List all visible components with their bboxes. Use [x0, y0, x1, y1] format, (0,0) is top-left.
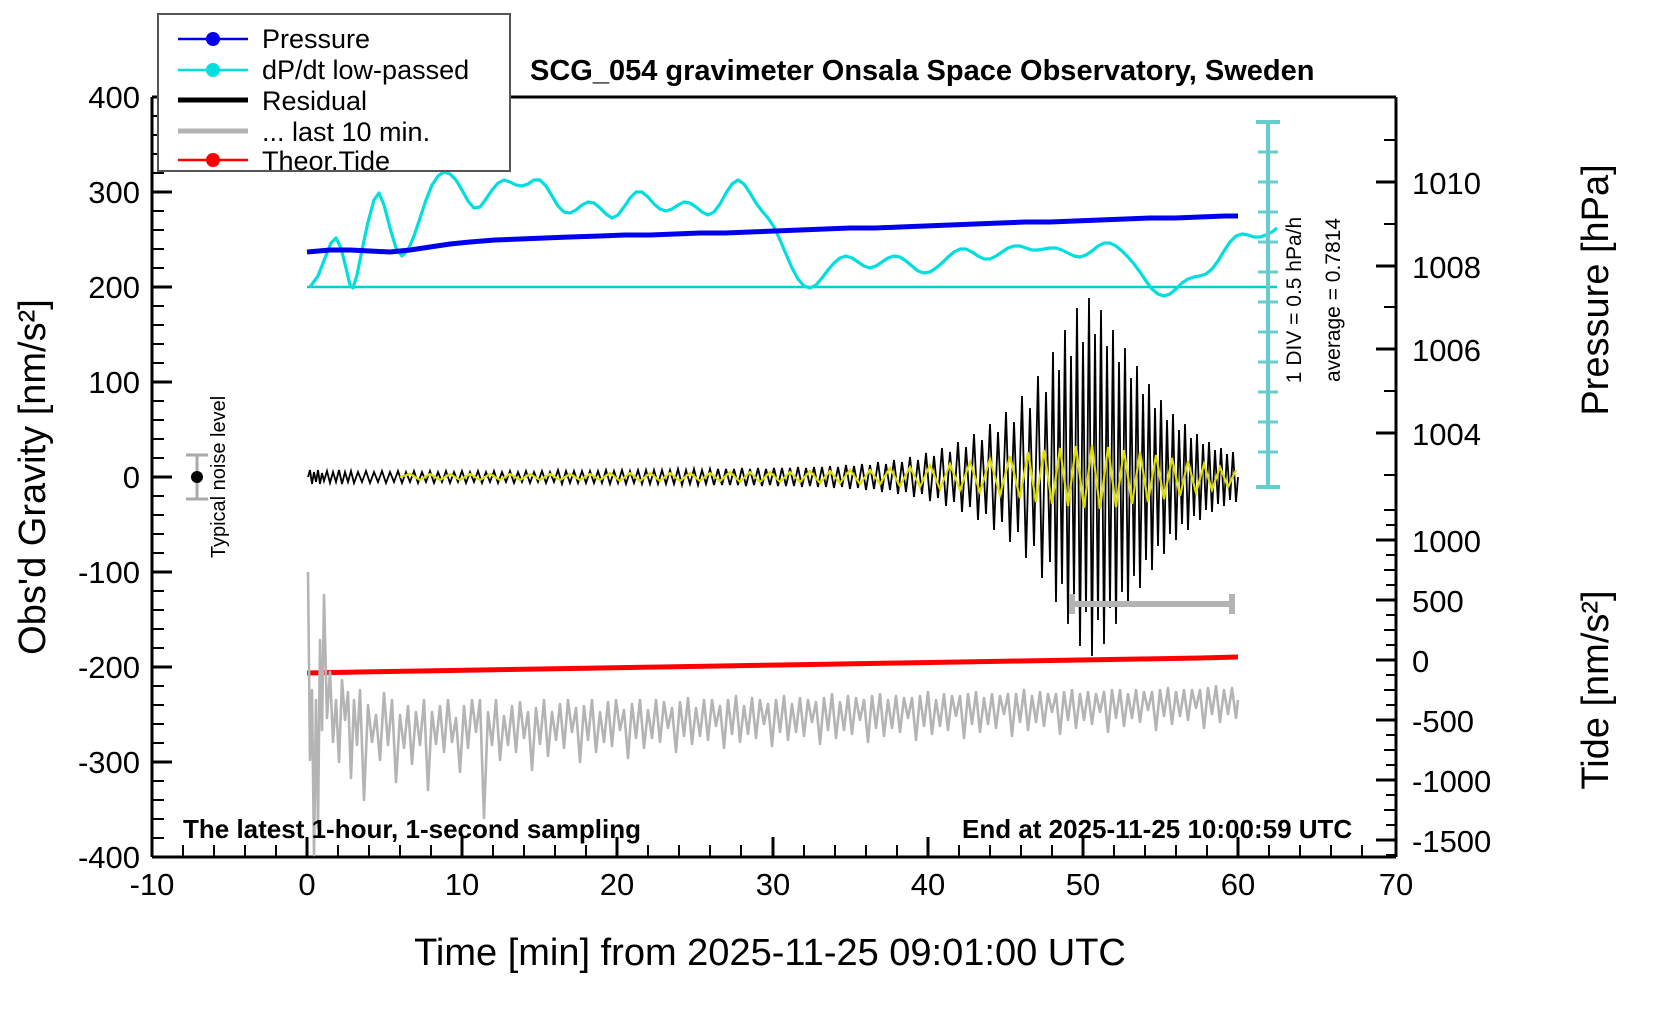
x-tick-7: 60 — [1221, 867, 1255, 902]
y-tick-left-8: 400 — [88, 80, 140, 115]
x-tick-6: 50 — [1066, 867, 1100, 902]
x-tick-5: 40 — [911, 867, 945, 902]
legend-swatch-marker-pressure — [206, 32, 220, 46]
dpdt-div-scale-label: 1 DIV = 0.5 hPa/h — [1283, 217, 1306, 383]
y-tick-left-6: 200 — [88, 270, 140, 305]
footer-left-label: The latest 1-hour, 1-second sampling — [183, 814, 641, 844]
y-tick-tide-minus500: -500 — [1412, 704, 1474, 739]
y-tick-pressure-1006: 1006 — [1412, 333, 1481, 368]
y-tick-pressure-1004: 1004 — [1412, 417, 1481, 452]
noise-level-dot — [191, 471, 203, 483]
legend-swatch-marker-dpdt — [206, 63, 220, 77]
x-tick-4: 30 — [756, 867, 790, 902]
legend-label-pressure: Pressure — [262, 24, 370, 54]
y-tick-left-5: 100 — [88, 365, 140, 400]
y-axis-right-tide-title: Tide [nm/s²] — [1575, 590, 1617, 789]
gravimeter-plot-figure: -400 -300 -200 -100 0 100 200 300 400 — [0, 0, 1660, 1020]
y-tick-tide-minus1000: -1000 — [1412, 764, 1491, 799]
y-tick-left-1: -300 — [78, 745, 140, 780]
legend-label-last10min: ... last 10 min. — [262, 117, 430, 147]
y-axis-right-pressure-title: Pressure [hPa] — [1575, 164, 1617, 415]
y-axis-left-title: Obs'd Gravity [nm/s²] — [12, 299, 54, 655]
y-tick-tide-0: 0 — [1412, 644, 1429, 679]
y-tick-pressure-1008: 1008 — [1412, 250, 1481, 285]
y-tick-tide-minus1500: -1500 — [1412, 824, 1491, 859]
legend-label-residual: Residual — [262, 86, 367, 116]
legend: Pressure dP/dt low-passed Residual ... l… — [158, 14, 510, 176]
legend-label-dpdt: dP/dt low-passed — [262, 55, 469, 85]
y-tick-left-7: 300 — [88, 175, 140, 210]
x-tick-3: 20 — [600, 867, 634, 902]
plot-title: SCG_054 gravimeter Onsala Space Observat… — [530, 55, 1314, 87]
y-tick-pressure-1010: 1010 — [1412, 166, 1481, 201]
y-tick-tide-1000: 1000 — [1412, 524, 1481, 559]
legend-label-theortide: Theor.Tide — [262, 146, 390, 176]
dpdt-average-label: average = 0.7814 — [1322, 218, 1345, 382]
x-axis-title: Time [min] from 2025-11-25 09:01:00 UTC — [414, 932, 1126, 974]
x-tick-0: -10 — [130, 867, 175, 902]
footer-right-label: End at 2025-11-25 10:00:59 UTC — [962, 814, 1352, 844]
y-tick-left-4: 0 — [123, 460, 140, 495]
x-tick-2: 10 — [445, 867, 479, 902]
y-tick-left-3: -100 — [78, 555, 140, 590]
y-tick-left-2: -200 — [78, 650, 140, 685]
x-tick-8: 70 — [1379, 867, 1413, 902]
x-tick-1: 0 — [298, 867, 315, 902]
legend-swatch-marker-theortide — [206, 153, 220, 167]
noise-level-label: Typical noise level — [208, 396, 230, 558]
y-tick-tide-500: 500 — [1412, 584, 1464, 619]
